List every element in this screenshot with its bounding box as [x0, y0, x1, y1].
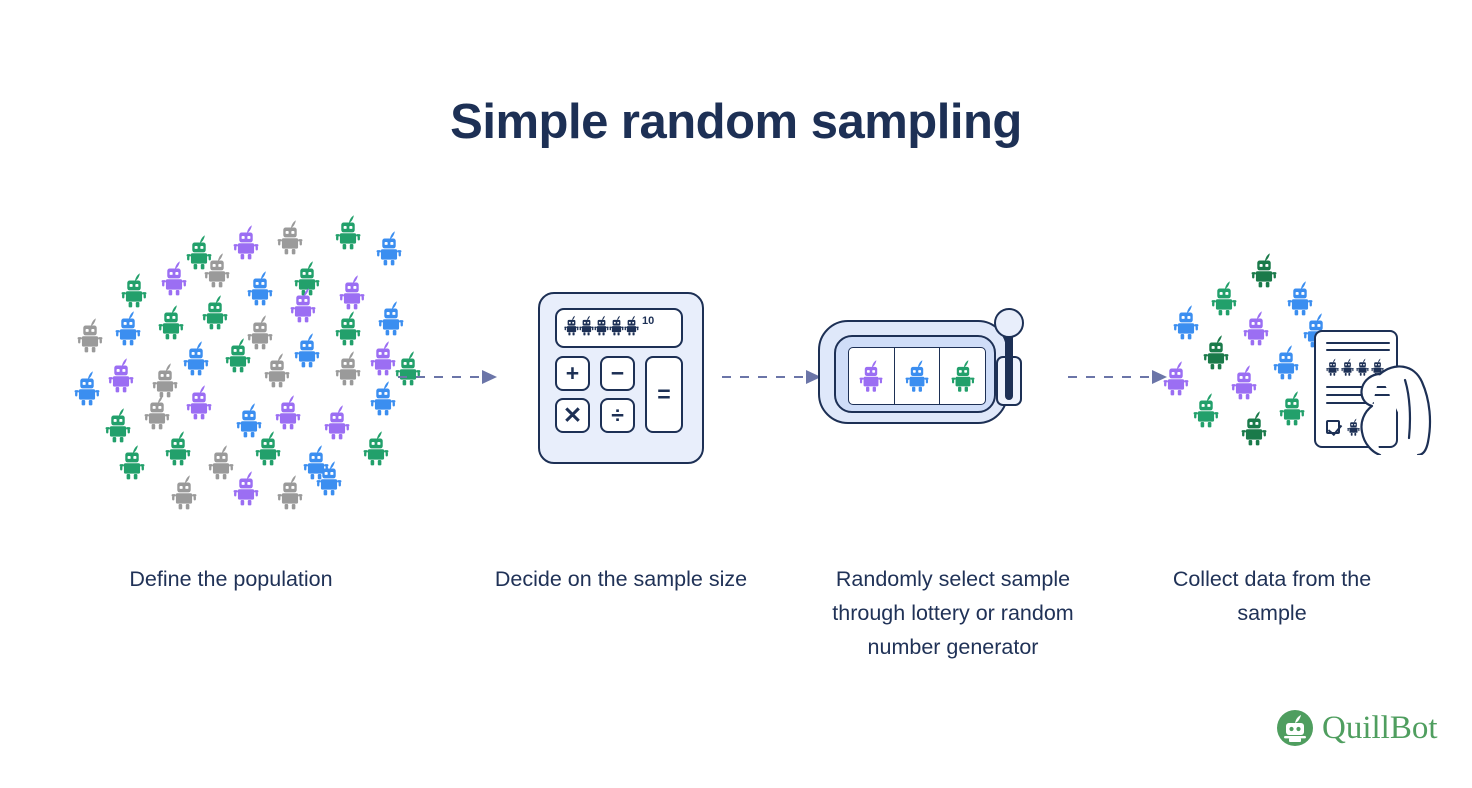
quillbot-robot-icon: [1277, 710, 1313, 746]
robot-figure: [370, 340, 396, 381]
robot-figure: [1203, 334, 1229, 375]
hand-icon: [1310, 330, 1438, 455]
robot-figure: [183, 340, 209, 381]
robot-figure: [1251, 252, 1277, 293]
slot-machine-case: [818, 320, 1008, 424]
slot-reel-blue: [895, 348, 941, 404]
slot-reel-purple: [849, 348, 895, 404]
robot-figure: [233, 470, 259, 511]
robot-figure: [161, 260, 187, 301]
robot-figure: [247, 270, 273, 311]
arrow-shaft: [1068, 376, 1152, 378]
robot-figure: [77, 317, 103, 358]
robot-figure: [294, 332, 320, 373]
display-robot-icon: [609, 315, 624, 341]
robot-figure: [74, 370, 100, 411]
quillbot-wordmark: QuillBot: [1322, 710, 1438, 747]
robot-figure: [316, 460, 342, 501]
slot-reels: [848, 347, 986, 405]
calculator-display: 10: [555, 308, 683, 348]
page-title: Simple random sampling: [0, 94, 1472, 150]
robot-figure: [202, 294, 228, 335]
robot-figure: [225, 337, 251, 378]
robot-figure: [105, 407, 131, 448]
arrow-step-2-to-3: [722, 370, 830, 384]
robot-figure: [115, 310, 141, 351]
robot-figure: [165, 430, 191, 471]
calculator-key-minus[interactable]: −: [600, 356, 635, 391]
calculator-key-equals[interactable]: =: [645, 356, 683, 433]
arrow-shaft: [722, 376, 806, 378]
robot-figure: [233, 224, 259, 265]
robot-figure: [1279, 390, 1305, 431]
slot-machine-illustration: [818, 302, 1048, 442]
display-robot-icon: [594, 315, 609, 341]
robot-figure: [324, 404, 350, 445]
display-exponent: 10: [642, 315, 654, 327]
display-robot-icon: [579, 315, 594, 341]
step-1-caption: Define the population: [70, 562, 392, 596]
robot-figure: [158, 304, 184, 345]
document-with-hand-illustration: [1310, 330, 1438, 455]
step-4-caption: Collect data from the sample: [1150, 562, 1394, 630]
slot-machine-panel: [834, 335, 996, 413]
display-robot-icons: [564, 315, 639, 341]
robot-figure: [277, 219, 303, 260]
calculator-key-divide[interactable]: ÷: [600, 398, 635, 433]
arrow-head-icon: [482, 370, 497, 384]
robot-figure: [1193, 392, 1219, 433]
robot-figure: [1163, 360, 1189, 401]
robot-figure: [277, 474, 303, 515]
robot-figure: [119, 444, 145, 485]
robot-figure: [204, 252, 230, 293]
robot-figure: [264, 352, 290, 393]
step-2-caption: Decide on the sample size: [462, 562, 780, 596]
robot-figure: [1273, 344, 1299, 385]
robot-figure: [208, 444, 234, 485]
quillbot-logo[interactable]: QuillBot: [1277, 706, 1438, 750]
robot-figure: [255, 430, 281, 471]
population-robot-cluster: [60, 222, 400, 532]
slot-reel-green: [940, 348, 985, 404]
robot-figure: [1211, 280, 1237, 321]
calculator-key-plus[interactable]: +: [555, 356, 590, 391]
robot-figure: [370, 380, 396, 421]
arrow-shaft: [398, 376, 482, 378]
robot-figure: [144, 394, 170, 435]
robot-figure: [1173, 304, 1199, 345]
calculator-key-times[interactable]: ✕: [555, 398, 590, 433]
robot-figure: [335, 310, 361, 351]
robot-figure: [1241, 410, 1267, 451]
robot-figure: [171, 474, 197, 515]
step-3-caption: Randomly select sample through lottery o…: [800, 562, 1106, 664]
infographic-canvas: Simple random sampling 10 + − ✕ ÷ =: [0, 0, 1472, 788]
robot-figure: [275, 394, 301, 435]
robot-figure: [335, 214, 361, 255]
lever-knob-icon[interactable]: [994, 308, 1024, 338]
display-robot-icon: [624, 315, 639, 341]
robot-figure: [1231, 364, 1257, 405]
sample-robot-cluster: [1155, 252, 1325, 452]
robot-figure: [335, 350, 361, 391]
robot-figure: [376, 230, 402, 271]
arrow-step-1-to-2: [398, 370, 506, 384]
robot-figure: [363, 430, 389, 471]
calculator-illustration: 10 + − ✕ ÷ =: [538, 292, 704, 464]
robot-figure: [108, 357, 134, 398]
robot-figure: [290, 287, 316, 328]
robot-figure: [1243, 310, 1269, 351]
display-robot-icon: [564, 315, 579, 341]
robot-figure: [186, 384, 212, 425]
robot-figure: [121, 272, 147, 313]
robot-figure: [339, 274, 365, 315]
robot-figure: [378, 300, 404, 341]
